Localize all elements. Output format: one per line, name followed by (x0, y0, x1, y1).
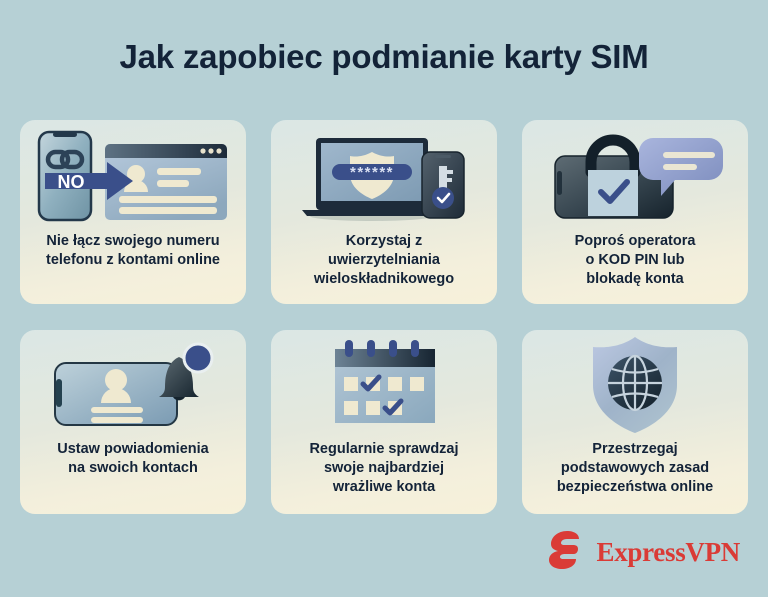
shield-globe-icon (522, 330, 748, 440)
tip-card-do-not-link-phone[interactable]: NO Nie łącz swojego numeru telefonu z ko… (20, 120, 246, 304)
laptop-shield-password-key-icon: ****** (271, 120, 497, 232)
tip-card-use-mfa[interactable]: ****** Korzystaj z uwierzytelniania wiel… (271, 120, 497, 304)
tip-card-ask-carrier-pin[interactable]: Poproś operatora o KOD PIN lub blokadę k… (522, 120, 748, 304)
tip-card-check-accounts-regularly[interactable]: Regularnie sprawdzaj swoje najbardziej w… (271, 330, 497, 514)
phone-padlock-chat-icon (522, 120, 748, 232)
tip-card-label: Poproś operatora o KOD PIN lub blokadę k… (522, 232, 748, 289)
no-label: NO (58, 172, 85, 192)
tips-grid: NO Nie łącz swojego numeru telefonu z ko… (20, 120, 748, 514)
brand-name: ExpressVPN (596, 537, 740, 568)
brand-logo: ExpressVPN (545, 530, 740, 575)
password-mask: ****** (350, 164, 394, 181)
phone-profile-bell-icon (20, 330, 246, 440)
tip-card-label: Przestrzegaj podstawowych zasad bezpiecz… (522, 440, 748, 497)
phone-link-browser-no-icon: NO (20, 120, 246, 232)
tip-card-follow-security-basics[interactable]: Przestrzegaj podstawowych zasad bezpiecz… (522, 330, 748, 514)
tip-card-label: Ustaw powiadomienia na swoich kontach (20, 440, 246, 478)
tip-card-label: Regularnie sprawdzaj swoje najbardziej w… (271, 440, 497, 497)
infographic-root: Jak zapobiec podmianie karty SIM (0, 0, 768, 597)
tip-card-label: Korzystaj z uwierzytelniania wieloskładn… (271, 232, 497, 289)
expressvpn-swoosh-icon (545, 530, 587, 575)
page-title: Jak zapobiec podmianie karty SIM (0, 38, 768, 76)
calendar-checks-icon (271, 330, 497, 440)
tip-card-label: Nie łącz swojego numeru telefonu z konta… (20, 232, 246, 270)
tip-card-set-notifications[interactable]: Ustaw powiadomienia na swoich kontach (20, 330, 246, 514)
